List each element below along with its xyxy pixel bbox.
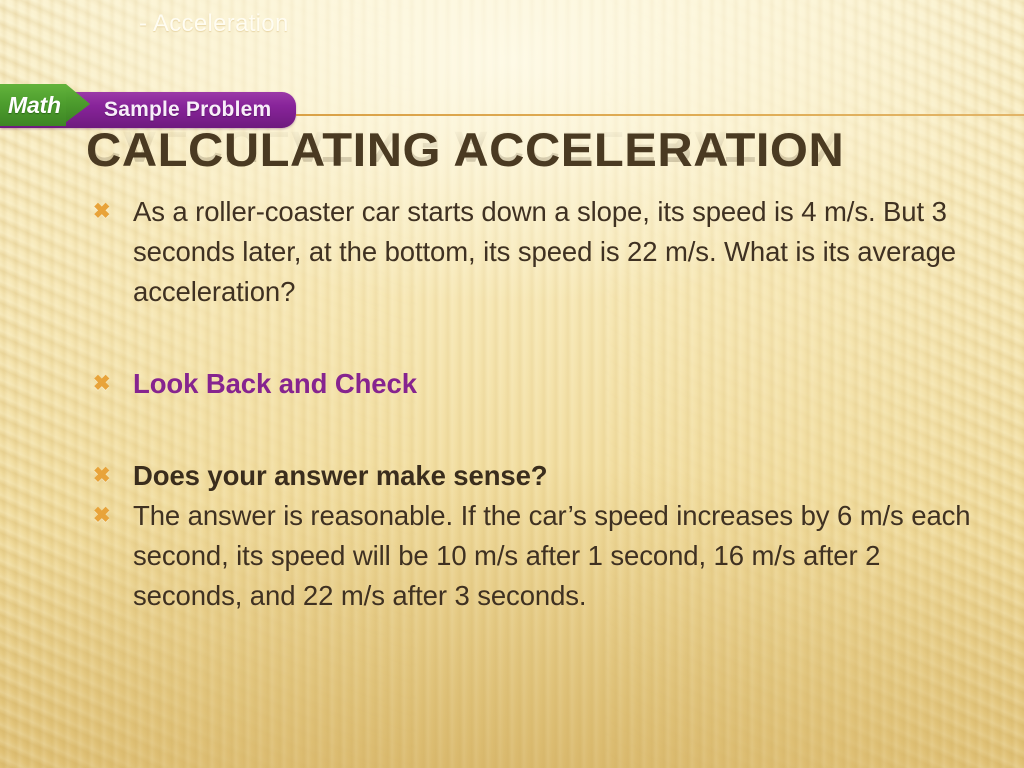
bullet-list: ✖ As a roller-coaster car starts down a … bbox=[88, 192, 978, 616]
slide-header-text: - Acceleration bbox=[139, 10, 289, 38]
bullet-cross-icon: ✖ bbox=[88, 496, 133, 536]
bullet-text-explanation: The answer is reasonable. If the car’s s… bbox=[133, 496, 978, 616]
sample-problem-banner: Sample Problem Math bbox=[0, 84, 300, 128]
bullet-text-problem: As a roller-coaster car starts down a sl… bbox=[133, 192, 978, 312]
page-title-reflection: CALCULATING ACCELERATION bbox=[86, 126, 844, 169]
bullet-spacer bbox=[88, 312, 978, 364]
bullet-cross-icon: ✖ bbox=[88, 364, 133, 404]
list-item: ✖ Does your answer make sense? bbox=[88, 456, 978, 496]
slide-canvas: - Acceleration Sample Problem Math CAL bbox=[0, 0, 1024, 768]
bullet-spacer bbox=[88, 404, 978, 456]
list-item: ✖ Look Back and Check bbox=[88, 364, 978, 404]
bullet-cross-icon: ✖ bbox=[88, 456, 133, 496]
header-divider-rule bbox=[296, 114, 1024, 116]
list-item: ✖ The answer is reasonable. If the car’s… bbox=[88, 496, 978, 616]
page-title: CALCULATING ACCELERATION CALCULATING ACC… bbox=[86, 126, 986, 198]
bullet-text-does-your-answer-make-sense: Does your answer make sense? bbox=[133, 456, 978, 496]
banner-sample-problem-label: Sample Problem bbox=[104, 98, 271, 122]
bullet-text-look-back-and-check: Look Back and Check bbox=[133, 364, 978, 404]
banner-math-label: Math bbox=[8, 92, 61, 119]
list-item: ✖ As a roller-coaster car starts down a … bbox=[88, 192, 978, 312]
bullet-cross-icon: ✖ bbox=[88, 192, 133, 232]
